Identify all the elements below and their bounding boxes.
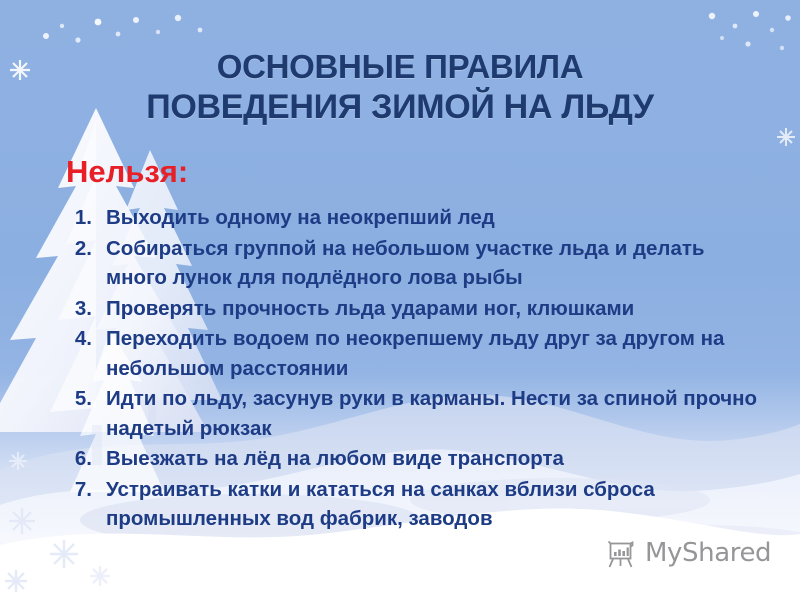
list-item-number: 6. <box>60 444 106 474</box>
list-item-text: Переходить водоем по неокрепшему льду др… <box>106 324 760 383</box>
list-item: 2. Собираться группой на небольшом участ… <box>60 234 760 293</box>
list-item-text: Выходить одному на неокрепший лед <box>106 203 760 233</box>
list-item-text: Устраивать катки и кататься на санках вб… <box>106 475 760 534</box>
list-item-number: 5. <box>60 384 106 414</box>
page-title: ОСНОВНЫЕ ПРАВИЛА ПОВЕДЕНИЯ ЗИМОЙ НА ЛЬДУ <box>0 47 800 129</box>
slide-content: ОСНОВНЫЕ ПРАВИЛА ПОВЕДЕНИЯ ЗИМОЙ НА ЛЬДУ… <box>0 0 800 600</box>
list-item-text: Идти по льду, засунув руки в карманы. Не… <box>106 384 760 443</box>
title-line-2: ПОВЕДЕНИЯ ЗИМОЙ НА ЛЬДУ <box>0 87 800 128</box>
title-line-1: ОСНОВНЫЕ ПРАВИЛА <box>0 47 800 87</box>
list-item-number: 3. <box>60 294 106 324</box>
list-item-text: Собираться группой на небольшом участке … <box>106 234 760 293</box>
myshared-watermark: MyShared <box>604 536 771 570</box>
watermark-label: MyShared <box>645 538 771 568</box>
list-item-number: 4. <box>60 324 106 354</box>
list-item-text: Выезжать на лёд на любом виде транспорта <box>106 444 760 474</box>
subheading-forbidden: Нельзя: <box>66 156 188 187</box>
rules-list: 1. Выходить одному на неокрепший лед 2. … <box>60 203 760 535</box>
list-item-number: 2. <box>60 234 106 264</box>
easel-chart-icon <box>604 536 638 570</box>
list-item: 5. Идти по льду, засунув руки в карманы.… <box>60 384 760 443</box>
list-item: 1. Выходить одному на неокрепший лед <box>60 203 760 233</box>
list-item: 4. Переходить водоем по неокрепшему льду… <box>60 324 760 383</box>
list-item: 6. Выезжать на лёд на любом виде транспо… <box>60 444 760 474</box>
list-item-number: 7. <box>60 475 106 505</box>
list-item-text: Проверять прочность льда ударами ног, кл… <box>106 294 760 324</box>
list-item-number: 1. <box>60 203 106 233</box>
list-item: 7. Устраивать катки и кататься на санках… <box>60 475 760 534</box>
list-item: 3. Проверять прочность льда ударами ног,… <box>60 294 760 324</box>
slide-canvas: ОСНОВНЫЕ ПРАВИЛА ПОВЕДЕНИЯ ЗИМОЙ НА ЛЬДУ… <box>0 0 800 600</box>
